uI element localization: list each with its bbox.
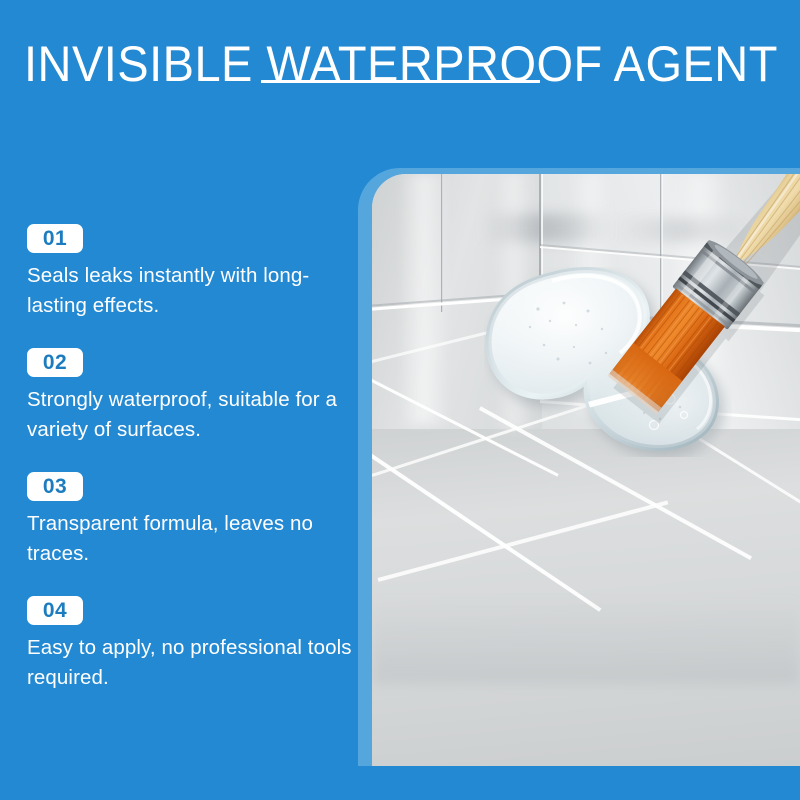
tile-scene xyxy=(372,174,800,766)
feature-list: 01 Seals leaks instantly with long-lasti… xyxy=(27,224,357,720)
feature-number-badge: 03 xyxy=(27,472,83,501)
title-underline-divider xyxy=(261,80,540,83)
list-item: 04 Easy to apply, no professional tools … xyxy=(27,596,357,693)
product-feature-graphic: INVISIBLE WATERPROOF AGENT 01 Seals leak… xyxy=(0,0,800,800)
feature-number-badge: 02 xyxy=(27,348,83,377)
feature-description: Seals leaks instantly with long-lasting … xyxy=(27,261,357,321)
list-item: 02 Strongly waterproof, suitable for a v… xyxy=(27,348,357,445)
floor-tiles xyxy=(372,429,800,766)
list-item: 03 Transparent formula, leaves no traces… xyxy=(27,472,357,569)
feature-description: Transparent formula, leaves no traces. xyxy=(27,509,357,569)
list-item: 01 Seals leaks instantly with long-lasti… xyxy=(27,224,357,321)
feature-description: Strongly waterproof, suitable for a vari… xyxy=(27,385,357,445)
feature-description: Easy to apply, no professional tools req… xyxy=(27,633,357,693)
product-photo-frame xyxy=(358,168,800,766)
feature-number-badge: 04 xyxy=(27,596,83,625)
wall-tiles-left xyxy=(372,174,542,450)
product-photo xyxy=(372,174,800,766)
feature-number-badge: 01 xyxy=(27,224,83,253)
